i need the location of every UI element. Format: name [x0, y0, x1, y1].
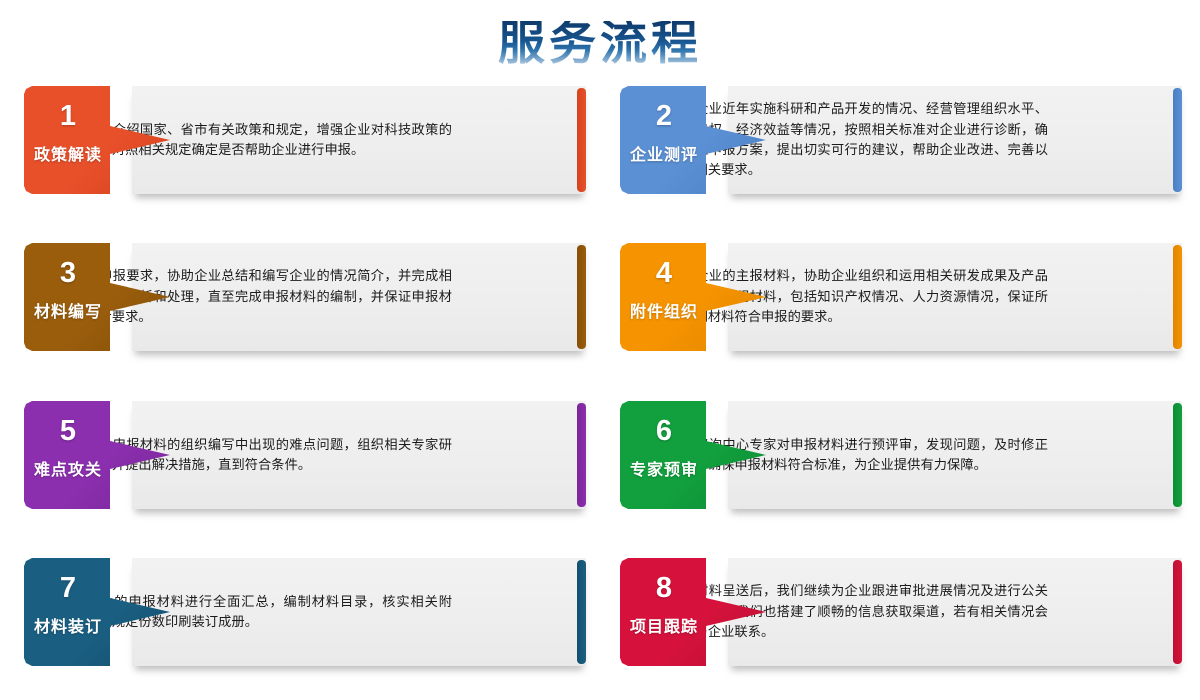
step-name-2: 企业测评: [620, 148, 708, 164]
process-step-6: 组织咨询中心专家对申报材料进行预评审，发现问题，及时修正解决，确保申报材料符合标…: [620, 401, 1182, 509]
page-title: 服务流程: [498, 21, 702, 68]
step-number-8: 8: [620, 574, 708, 603]
process-step-5: 对企业申报材料的组织编写中出现的难点问题，组织相关专家研讨诊断并提出解决措施，直…: [24, 401, 586, 509]
step-name-7: 材料装订: [24, 620, 112, 636]
step-name-6: 专家预审: [620, 463, 708, 479]
process-step-1: 为企业介绍国家、省市有关政策和规定，增强企业对科技政策的认识，对照相关规定确定是…: [24, 86, 586, 194]
service-process-page: 服务流程 为企业介绍国家、省市有关政策和规定，增强企业对科技政策的认识，对照相关…: [0, 0, 1200, 700]
step-number-2: 2: [620, 102, 708, 131]
step-accent-bar-2: [1173, 88, 1182, 192]
process-step-3: 按照申报要求，协助企业总结和编写企业的情况简介，并完成相关材料的分析和处理，直至…: [24, 243, 586, 351]
step-accent-bar-7: [577, 560, 586, 664]
step-name-8: 项目跟踪: [620, 620, 708, 636]
process-step-4: 根据企业的主报材料，协助企业组织和运用相关研发成果及产品或服务的证明材料，包括知…: [620, 243, 1182, 351]
step-accent-bar-4: [1173, 245, 1182, 349]
step-number-6: 6: [620, 417, 708, 446]
process-step-2: 根据企业近年实施科研和产品开发的情况、经营管理组织水平、知识产权、经济效益等情况…: [620, 86, 1182, 194]
step-number-1: 1: [24, 102, 112, 131]
step-accent-bar-1: [577, 88, 586, 192]
step-name-1: 政策解读: [24, 148, 112, 164]
step-accent-bar-8: [1173, 560, 1182, 664]
step-accent-bar-6: [1173, 403, 1182, 507]
step-accent-bar-5: [577, 403, 586, 507]
process-step-8: 申报材料呈送后，我们继续为企业跟进审批进展情况及进行公关工作。同时我们也搭建了顺…: [620, 558, 1182, 666]
process-steps-grid: 为企业介绍国家、省市有关政策和规定，增强企业对科技政策的认识，对照相关规定确定是…: [0, 86, 1200, 696]
step-name-4: 附件组织: [620, 305, 708, 321]
step-name-3: 材料编写: [24, 305, 112, 321]
process-step-7: 对企业的申报材料进行全面汇总，编制材料目录，核实相关附件，按规定份数印刷装订成册…: [24, 558, 586, 666]
step-number-3: 3: [24, 259, 112, 288]
step-name-5: 难点攻关: [24, 463, 112, 479]
page-title-container: 服务流程: [0, 8, 1200, 80]
step-number-4: 4: [620, 259, 708, 288]
step-accent-bar-3: [577, 245, 586, 349]
step-number-7: 7: [24, 574, 112, 603]
step-number-5: 5: [24, 417, 112, 446]
